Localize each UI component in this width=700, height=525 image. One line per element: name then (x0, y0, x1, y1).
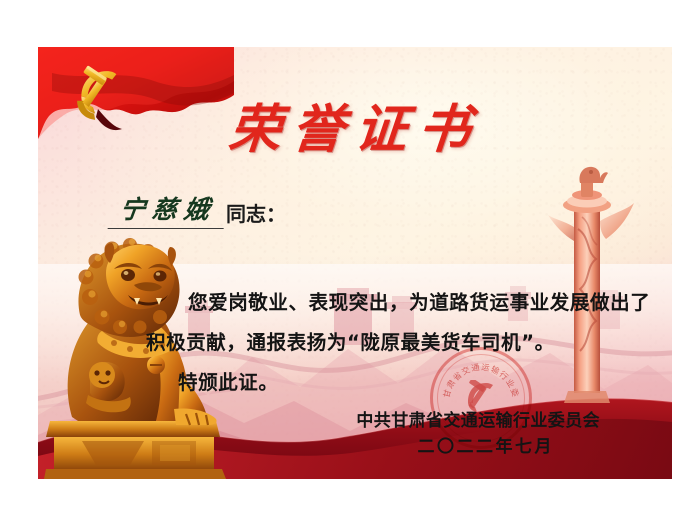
recipient-name: 宁慈娥 (108, 190, 229, 229)
certificate-content: 荣誉证书 宁慈娥 同志： 您爱岗敬业、表现突出，为道路货运事业发展做出了 积极贡… (38, 47, 672, 479)
honor-certificate: 荣誉证书 宁慈娥 同志： 您爱岗敬业、表现突出，为道路货运事业发展做出了 积极贡… (38, 47, 672, 479)
issue-date: 二〇二二年七月 (418, 432, 555, 457)
issuer-name: 中共甘肃省交通运输行业委员会 (356, 406, 600, 431)
body-line-1: 您爱岗敬业、表现突出，为道路货运事业发展做出了 (38, 286, 672, 315)
recipient-suffix: 同志： (226, 198, 286, 229)
body-line-3: 特颁此证。 (38, 366, 672, 395)
recipient-row: 宁慈娥 同志： (110, 190, 286, 229)
certificate-title: 荣誉证书 (38, 104, 672, 156)
screenshot-canvas: 荣誉证书 宁慈娥 同志： 您爱岗敬业、表现突出，为道路货运事业发展做出了 积极贡… (0, 0, 700, 525)
body-line-2: 积极贡献，通报表扬为“陇原最美货车司机”。 (38, 326, 672, 355)
